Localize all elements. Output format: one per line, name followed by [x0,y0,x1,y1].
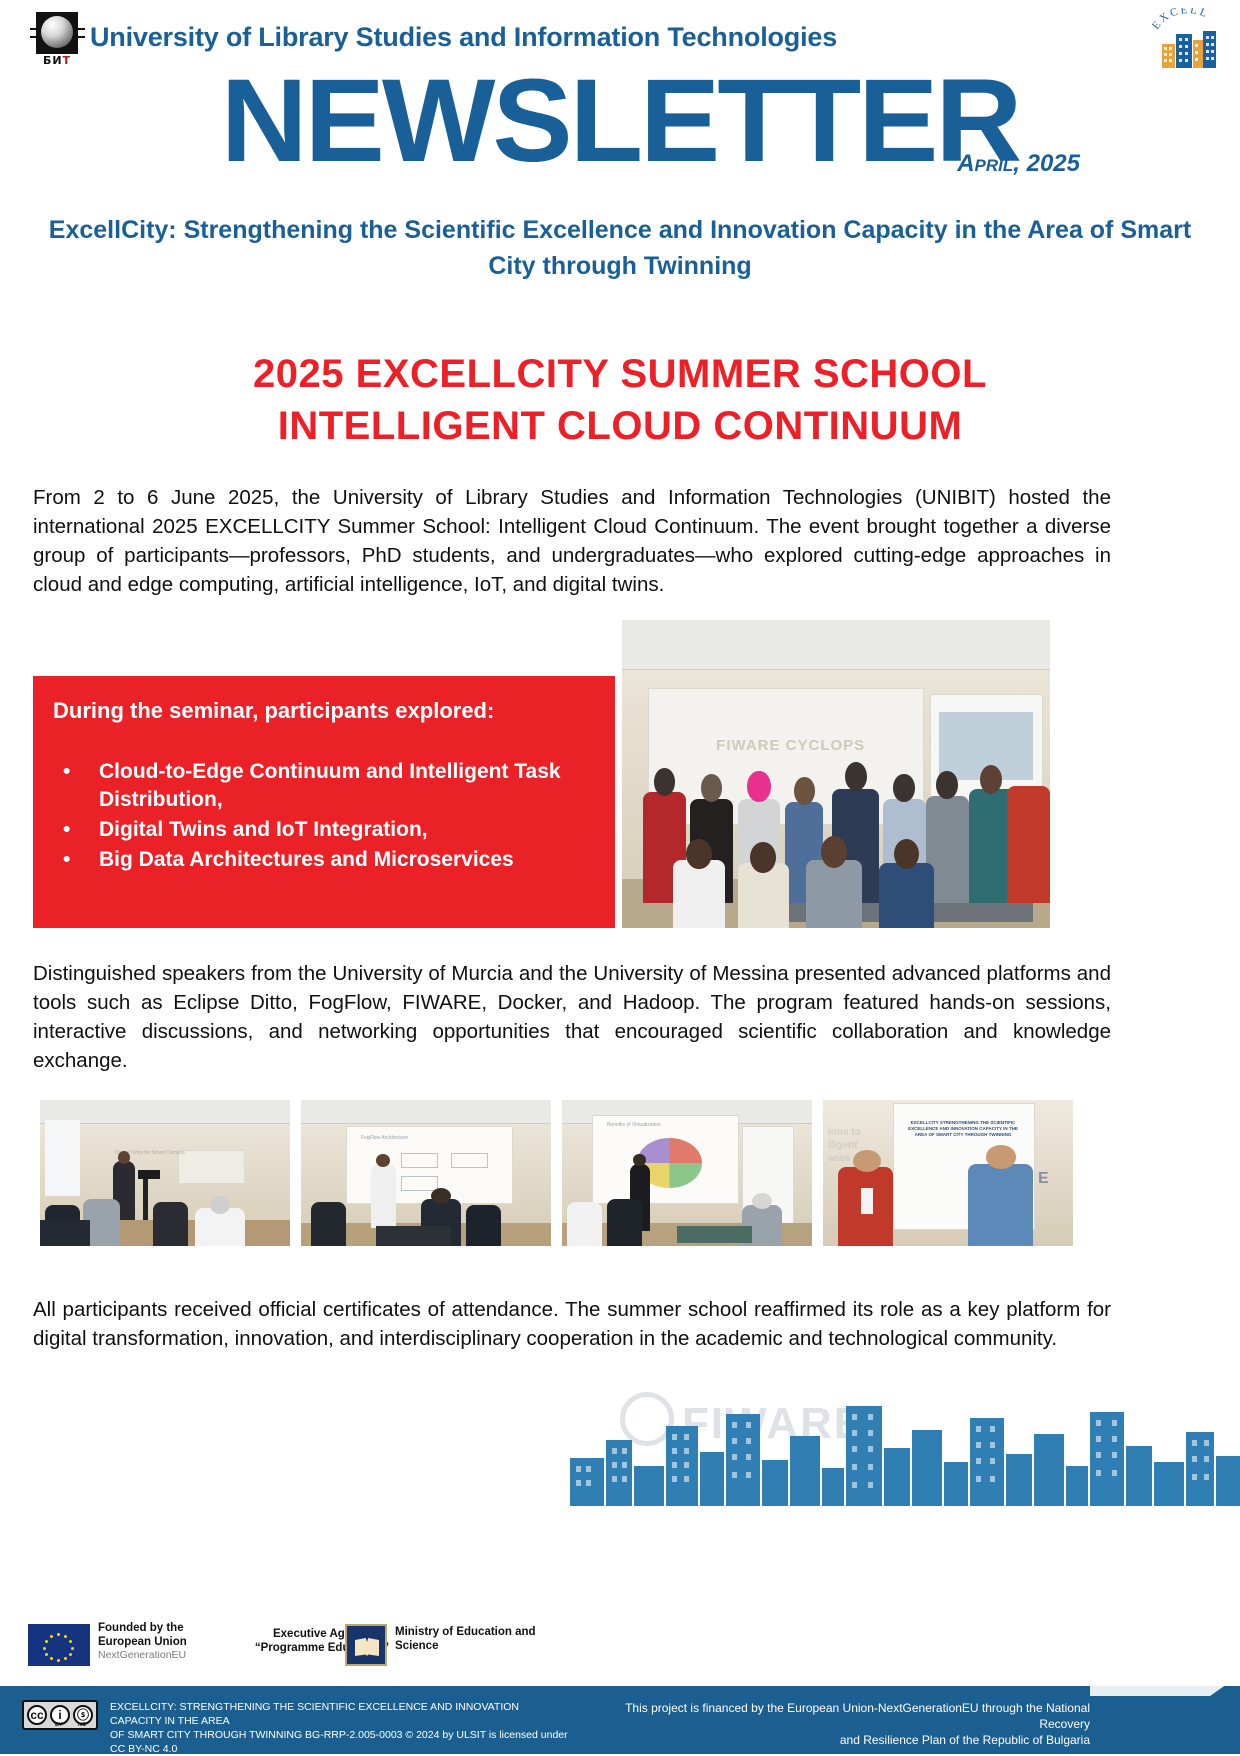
gallery-photo-presenter-head [376,1154,390,1167]
ministry-education-line2: Science [395,1640,585,1654]
eu-flag-icon [28,1624,90,1666]
gallery-photo-presenter-head [118,1151,131,1164]
license-text: EXCELLCITY: STRENGTHENING THE SCIENTIFIC… [110,1700,570,1756]
gallery-photo-2: FogFlow Architecture [301,1100,551,1246]
gallery-photo-window [45,1120,80,1196]
bullet-icon: • [63,846,70,874]
gallery-photo-audience [311,1202,346,1246]
gallery-photo-ceiling [301,1100,551,1124]
hero-photo-person-head [980,765,1002,794]
unibit-logo-line-right-b [76,36,85,38]
license-line1: EXCELLCITY: STRENGTHENING THE SCIENTIFIC… [110,1700,570,1728]
gallery-photo-audience [153,1202,188,1246]
unibit-logo-line-left-a [30,28,39,30]
highlight-box: During the seminar, participants explore… [33,676,615,928]
executive-agency-label: Executive Agency “Programme Education” [222,1628,422,1655]
ministry-education-line1: Ministry of Education and [395,1626,585,1640]
hero-photo-person-head [794,777,815,805]
list-item-label: Digital Twins and IoT Integration, [99,818,428,841]
cc-by-label: BY [55,1722,63,1728]
hero-photo-person-head [747,771,770,802]
gallery-photo-whiteboard [178,1150,245,1184]
license-line2: OF SMART CITY THROUGH TWINNING BG-RRP-2.… [110,1728,570,1756]
financing-line1: This project is financed by the European… [600,1700,1090,1732]
gallery-photo-person-head [986,1145,1016,1168]
hero-photo-person-head [845,762,867,791]
hero-photo-person-head [750,842,776,873]
city-skyline-graphic [570,1396,1240,1506]
book-icon [355,1638,379,1656]
gallery-photo-person-head [853,1150,881,1172]
unibit-logo-sphere [41,16,73,48]
bullet-icon: • [63,816,70,844]
bullet-icon: • [63,758,70,786]
gallery-photo-audience [607,1199,642,1246]
gallery-photo-audience [466,1205,501,1246]
ministry-education-icon [345,1624,387,1666]
gallery-photo-excell-mark: E [1038,1170,1049,1188]
list-item: •Big Data Architectures and Microservice… [53,846,601,874]
gallery-photo-desk [677,1226,752,1244]
cc-license-badge: cc i ⓢ BY NC [22,1700,98,1730]
unibit-logo-line-left-b [30,36,39,38]
gallery-photo-banner-text: EXCELLCITY STRENGTHENING THE SCIENTIFIC … [908,1120,1018,1138]
article-headline-line2: INTELLIGENT CLOUD CONTINUUM [40,400,1200,452]
highlight-box-heading: During the seminar, participants explore… [53,698,494,724]
hero-photo-person [738,863,789,928]
hero-photo-person-head [654,768,675,796]
financing-statement: This project is financed by the European… [600,1700,1090,1748]
gallery-photo-screen-title: FogFlow Architecture [361,1135,408,1141]
hero-photo-person [879,863,935,928]
list-item: •Cloud-to-Edge Continuum and Intelligent… [53,758,601,814]
ministry-education-label: Ministry of Education and Science [395,1626,585,1653]
hero-photo-screen-text: FIWARE CYCLOPS [716,737,865,754]
hero-photo-person-head [893,774,914,802]
gallery-photo-presenter [371,1164,396,1228]
article-paragraph-1: From 2 to 6 June 2025, the University of… [33,483,1111,599]
university-name: University of Library Studies and Inform… [90,22,1050,53]
gallery-photo-4: EXCELLCITY STRENGTHENING THE SCIENTIFIC … [823,1100,1073,1246]
hero-photo-group: FIWARE CYCLOPS [622,620,1050,928]
executive-agency-line2: “Programme Education” [222,1642,422,1656]
hero-photo-ceiling [622,620,1050,670]
cc-icon: cc [27,1705,47,1725]
gallery-photo-screen-title: Benefits of Virtualization [607,1122,661,1128]
list-item-label: Cloud-to-Edge Continuum and Intelligent … [99,760,561,811]
gallery-photo-audience-head [431,1188,451,1204]
footer-arrow-decoration [1090,1672,1230,1698]
hero-photo-person-head [821,836,847,868]
gallery-photo-desk [40,1220,90,1246]
gallery-photo-desk [376,1226,451,1246]
gallery-photo-1: Digital Twins for Smart Campus [40,1100,290,1246]
highlight-box-list: •Cloud-to-Edge Continuum and Intelligent… [53,758,601,876]
hero-photo-person-head [686,839,712,870]
newsletter-page: БИТ University of Library Studies and In… [0,0,1240,1754]
gallery-photo-audience [567,1202,602,1246]
gallery-photo-3: Benefits of Virtualization [562,1100,812,1246]
executive-agency-line1: Executive Agency [222,1628,422,1642]
financing-line2: and Resilience Plan of the Republic of B… [600,1732,1090,1748]
gallery-photo-presenter-head [633,1154,646,1166]
excell-logo: EXCELL [1152,8,1224,70]
gallery-photo-diagram-node [401,1176,438,1191]
article-paragraph-3: All participants received official certi… [33,1295,1111,1353]
gallery-photo-person [968,1164,1033,1246]
hero-photo-person [806,860,862,928]
article-paragraph-2: Distinguished speakers from the Universi… [33,959,1111,1075]
gallery-photo-camera-icon [138,1170,161,1179]
list-item: •Digital Twins and IoT Integration, [53,816,601,844]
gallery-photo-badge [861,1188,874,1214]
hero-photo-person-head [701,774,722,802]
project-subtitle: ExcellCity: Strengthening the Scientific… [40,212,1200,284]
hero-photo-person [673,860,724,928]
masthead-date: April, 2025 [920,150,1080,178]
unibit-logo-line-right-a [76,28,85,30]
article-headline-line1: 2025 EXCELLCITY SUMMER SCHOOL [40,348,1200,400]
list-item-label: Big Data Architectures and Microservices [99,848,514,871]
gallery-photo-diagram-node [451,1153,488,1168]
gallery-photo-diagram-node [401,1153,438,1168]
cc-nc-label: NC [78,1722,86,1728]
hero-photo-person [1007,786,1050,903]
gallery-photo-audience-head [210,1196,230,1214]
hero-photo-person-head [936,771,957,799]
article-headline: 2025 EXCELLCITY SUMMER SCHOOL INTELLIGEN… [40,348,1200,452]
